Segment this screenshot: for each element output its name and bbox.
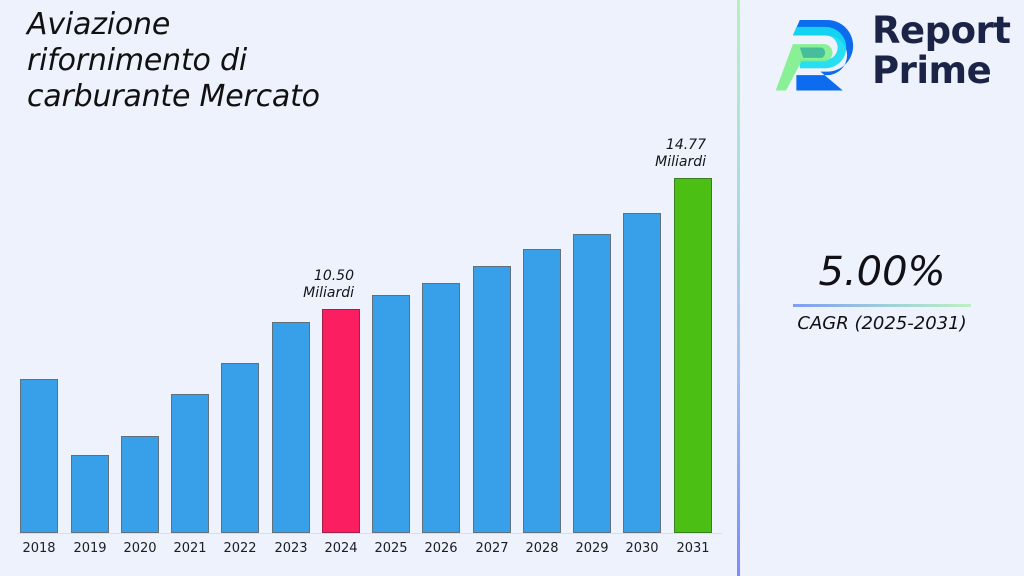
x-axis-line	[18, 533, 722, 534]
cagr-value: 5.00%	[740, 248, 1024, 296]
x-tick-2024: 2024	[313, 541, 369, 556]
report-prime-logo-icon	[774, 8, 860, 94]
brand-logo: Report Prime	[774, 8, 1010, 94]
bar-group	[473, 266, 511, 533]
x-tick-2020: 2020	[112, 541, 168, 556]
x-tick-2022: 2022	[212, 541, 268, 556]
bar-2026[interactable]	[422, 283, 460, 533]
x-tick-2025: 2025	[363, 541, 419, 556]
cagr-divider-rule	[793, 304, 971, 307]
bar-group	[623, 213, 661, 533]
bar-2018[interactable]	[20, 379, 58, 533]
bar-2020[interactable]	[121, 436, 159, 533]
bar-group	[171, 394, 209, 533]
bar-2029[interactable]	[573, 234, 611, 533]
bar-2021[interactable]	[171, 394, 209, 533]
bar-2028[interactable]	[523, 249, 561, 533]
bar-2019[interactable]	[71, 455, 109, 533]
cagr-block: 5.00% CAGR (2025-2031)	[740, 248, 1024, 335]
bar-group	[121, 436, 159, 533]
brand-panel: Report Prime 5.00% CAGR (2025-2031)	[740, 0, 1024, 576]
bar-2031[interactable]	[674, 178, 712, 533]
chart-infographic: Aviazione rifornimento di carburante Mer…	[0, 0, 1024, 576]
bar-group	[221, 363, 259, 533]
bar-2023[interactable]	[272, 322, 310, 533]
bar-2025[interactable]	[372, 295, 410, 533]
bar-group: 14.77 Miliardi	[674, 178, 712, 533]
bar-2024[interactable]	[322, 309, 360, 533]
x-tick-2023: 2023	[263, 541, 319, 556]
bar-group	[272, 322, 310, 533]
chart-panel: Aviazione rifornimento di carburante Mer…	[0, 0, 738, 576]
bar-group	[372, 295, 410, 533]
bar-group	[71, 455, 109, 533]
bar-group	[523, 249, 561, 533]
x-tick-2030: 2030	[614, 541, 670, 556]
bar-group	[573, 234, 611, 533]
x-tick-2018: 2018	[11, 541, 67, 556]
x-tick-2029: 2029	[564, 541, 620, 556]
bar-group: 10.50 Miliardi	[322, 309, 360, 533]
bar-value-label-2031: 14.77 Miliardi	[586, 137, 706, 171]
bar-group	[422, 283, 460, 533]
x-tick-2027: 2027	[464, 541, 520, 556]
bar-value-label-2024: 10.50 Miliardi	[234, 268, 354, 302]
bar-2027[interactable]	[473, 266, 511, 533]
cagr-caption: CAGR (2025-2031)	[740, 313, 1024, 335]
x-tick-2019: 2019	[62, 541, 118, 556]
x-tick-2021: 2021	[162, 541, 218, 556]
brand-wordmark: Report Prime	[872, 11, 1010, 91]
plot-area: 10.50 Miliardi14.77 Miliardi 20182019202…	[0, 0, 738, 576]
x-tick-2028: 2028	[514, 541, 570, 556]
bar-group	[20, 379, 58, 533]
x-tick-2026: 2026	[413, 541, 469, 556]
x-tick-2031: 2031	[665, 541, 721, 556]
bar-2022[interactable]	[221, 363, 259, 533]
bar-2030[interactable]	[623, 213, 661, 533]
